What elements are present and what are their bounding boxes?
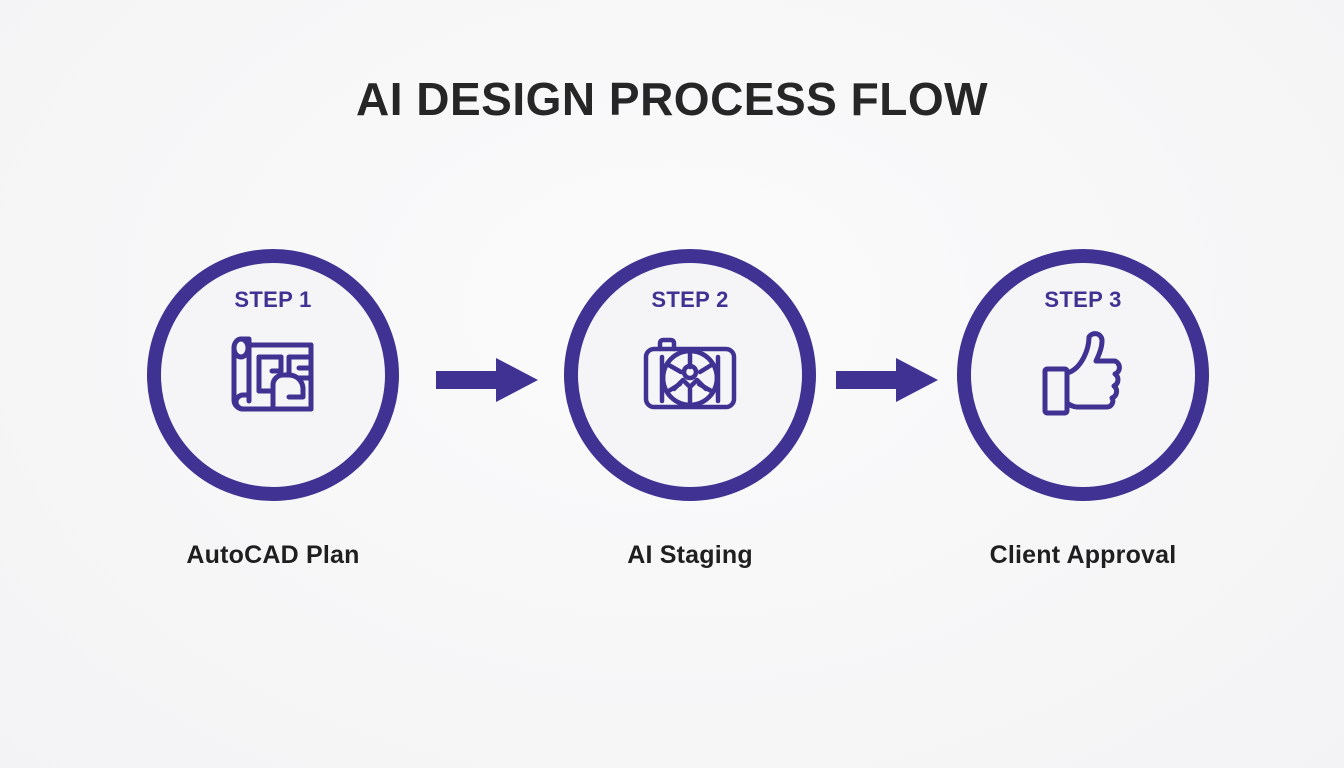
process-flow-diagram: STEP 1 [0,249,1344,579]
arrow-right-icon-1 [436,356,538,404]
flow-step-1[interactable]: STEP 1 [123,249,423,579]
step-3-circle[interactable]: STEP 3 [957,249,1209,501]
step-2-caption: AI Staging [540,541,840,570]
step-1-label: STEP 1 [234,289,311,311]
step-3-label: STEP 3 [1044,289,1121,311]
thumbs-up-icon [1031,327,1135,423]
arrow-right-icon-2 [836,356,938,404]
step-2-label: STEP 2 [651,289,728,311]
step-1-circle[interactable]: STEP 1 [147,249,399,501]
blueprint-roll-icon [221,327,325,423]
step-3-caption: Client Approval [933,541,1233,570]
step-2-circle[interactable]: STEP 2 [564,249,816,501]
camera-aperture-icon [638,327,742,423]
flow-step-3[interactable]: STEP 3 Client Approval [933,249,1233,579]
step-1-caption: AutoCAD Plan [123,541,423,570]
page-title: AI DESIGN PROCESS FLOW [0,72,1344,126]
flow-step-2[interactable]: STEP 2 [540,249,840,579]
